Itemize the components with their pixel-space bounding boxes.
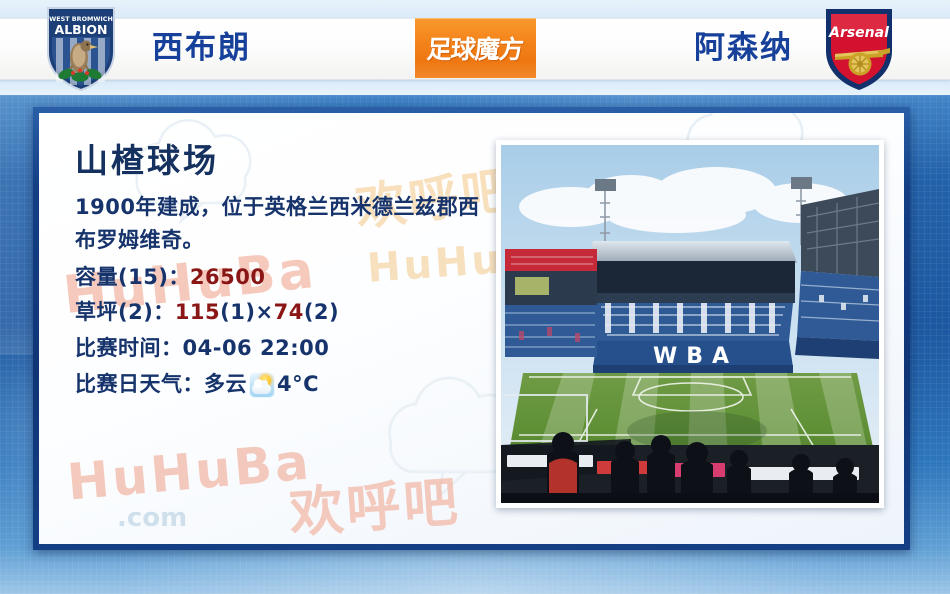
stadium-photo-frame: WBA xyxy=(496,140,884,508)
the-hawthorns-stadium-photo: WBA xyxy=(501,145,879,503)
capacity-label: 容量(15)： xyxy=(75,260,190,296)
capacity-row: 容量(15)： 26500 xyxy=(75,260,495,296)
stadium-info-card: WEST BROMWICH ALBION xyxy=(0,0,950,594)
pitch-label: 草坪(2)： xyxy=(75,295,175,331)
site-logo-text: 足球魔方 xyxy=(426,30,525,66)
pitch-width-value: 74 xyxy=(274,295,304,331)
info-panel: .com HuHuBa 欢呼吧 HuHuBa HuHuBa .com 欢呼吧 山… xyxy=(39,113,904,544)
info-panel-frame: .com HuHuBa 欢呼吧 HuHuBa HuHuBa .com 欢呼吧 山… xyxy=(33,107,910,550)
pitch-row: 草坪(2)： 115 (1) × 74 (2) xyxy=(75,295,495,331)
west-bromwich-albion-crest-icon: WEST BROMWICH ALBION xyxy=(42,4,120,92)
sun-behind-cloud-icon xyxy=(249,372,275,398)
pitch-length-rank: (1) xyxy=(220,295,255,331)
arsenal-crest-icon: Arsenal xyxy=(820,4,898,92)
watermark-domain-bottom: .com xyxy=(117,503,187,533)
pitch-separator: × xyxy=(255,295,273,331)
watermark-brand-bottom: 欢呼吧 xyxy=(286,457,462,544)
svg-text:ALBION: ALBION xyxy=(55,22,108,37)
kickoff-value: 04-06 22:00 xyxy=(183,331,330,367)
home-team-name: 西布朗 xyxy=(152,20,251,76)
kickoff-row: 比赛时间： 04-06 22:00 xyxy=(75,331,495,367)
away-team-name: 阿森纳 xyxy=(694,20,793,76)
weather-temperature: 4°C xyxy=(277,367,319,403)
capacity-value: 26500 xyxy=(190,260,266,296)
weather-row: 比赛日天气： 多云 4°C xyxy=(75,367,495,403)
stadium-title: 山楂球场 xyxy=(75,143,495,179)
pitch-width-rank: (2) xyxy=(304,295,339,331)
kickoff-label: 比赛时间： xyxy=(75,331,183,367)
svg-text:Arsenal: Arsenal xyxy=(828,25,889,41)
weather-text: 多云 xyxy=(204,367,247,403)
stadium-info: 山楂球场 1900年建成，位于英格兰西米德兰兹郡西布罗姆维奇。 容量(15)： … xyxy=(75,143,495,402)
watermark-huhuba-bottom: HuHuBa xyxy=(65,432,314,511)
pitch-length-value: 115 xyxy=(175,295,220,331)
site-logo[interactable]: 足球魔方 xyxy=(415,18,536,78)
match-header: WEST BROMWICH ALBION xyxy=(0,0,950,95)
stadium-description: 1900年建成，位于英格兰西米德兰兹郡西布罗姆维奇。 xyxy=(75,191,485,257)
weather-label: 比赛日天气： xyxy=(75,367,204,403)
